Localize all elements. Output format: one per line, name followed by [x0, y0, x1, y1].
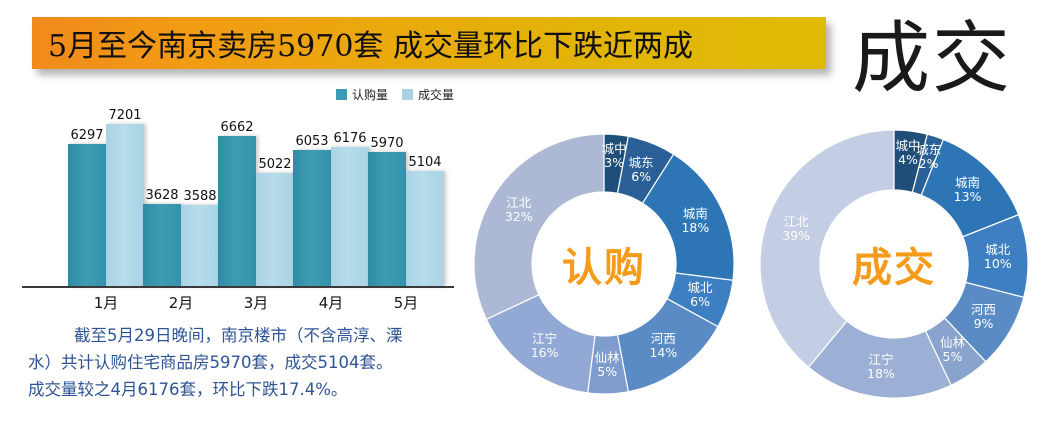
bar-value-label: 6297 [70, 128, 103, 143]
bar-group: 66625022 [218, 108, 294, 286]
bar-value-label: 3628 [145, 188, 178, 203]
bar: 6053 [293, 150, 331, 286]
bar-chart-legend: 认购量 成交量 [336, 86, 454, 103]
legend-item-0: 认购量 [336, 86, 388, 103]
bar-chart-x-labels: 1月2月3月4月5月 [22, 289, 454, 315]
x-axis-label: 5月 [394, 292, 419, 313]
caption-line-2: 水）共计认购住宅商品房5970套，成交5104套。 [28, 349, 458, 376]
banner-big-word: 成交 [852, 0, 1012, 108]
title-banner: 5月至今南京卖房5970套 成交量环比下跌近两成 [32, 17, 826, 69]
banner-title: 5月至今南京卖房5970套 成交量环比下跌近两成 [32, 21, 693, 65]
bar-group: 60536176 [293, 108, 369, 286]
bar-value-label: 3588 [183, 189, 216, 204]
x-axis-label: 2月 [169, 292, 194, 313]
bar-group: 36283588 [143, 108, 219, 286]
bar-chart: 认购量 成交量 62977201362835886662502260536176… [22, 86, 462, 316]
caption-line-3: 成交量较之4月6176套，环比下跌17.4%。 [28, 376, 458, 403]
bar-value-label: 5104 [408, 155, 441, 170]
bar-value-label: 6053 [295, 134, 328, 149]
bar-chart-plot: 6297720136283588666250226053617659705104 [22, 108, 462, 286]
bar: 5022 [256, 173, 294, 286]
bar-group: 59705104 [368, 108, 444, 286]
x-axis-label: 1月 [94, 292, 119, 313]
donut-center-label: 成交 [852, 235, 936, 293]
bar: 3628 [143, 204, 181, 286]
x-axis-label: 4月 [319, 292, 344, 313]
donut-chart-chengjiao: 成交 城中4%城东2%城南13%城北10%河西9%仙林5%江宁18%江北39% [758, 128, 1030, 400]
legend-item-1: 成交量 [402, 86, 454, 103]
legend-label-1: 成交量 [418, 86, 454, 103]
bar: 6176 [331, 147, 369, 286]
bar: 6662 [218, 136, 256, 286]
bar-group: 62977201 [68, 108, 144, 286]
bar: 5104 [406, 171, 444, 286]
bar-chart-axis [22, 286, 454, 288]
bar: 7201 [106, 124, 144, 286]
legend-swatch-icon [402, 89, 413, 100]
x-axis-label: 3月 [244, 292, 269, 313]
bar-value-label: 5970 [370, 136, 403, 151]
bar: 6297 [68, 144, 106, 286]
caption-block: 截至5月29日晚间，南京楼市（不含高淳、溧 水）共计认购住宅商品房5970套，成… [28, 322, 458, 403]
bar-value-label: 6662 [220, 120, 253, 135]
infographic-canvas: 5月至今南京卖房5970套 成交量环比下跌近两成 成交 认购量 成交量 6297… [0, 0, 1050, 438]
legend-label-0: 认购量 [352, 86, 388, 103]
bar-value-label: 5022 [258, 157, 291, 172]
bar-value-label: 6176 [333, 131, 366, 146]
bar-value-label: 7201 [108, 108, 141, 123]
bar: 5970 [368, 152, 406, 286]
donut-chart-renshou: 认购 城中3%城东6%城南18%城北6%河西14%仙林5%江宁16%江北32% [472, 128, 736, 400]
legend-swatch-icon [336, 89, 347, 100]
caption-line-1: 截至5月29日晚间，南京楼市（不含高淳、溧 [28, 322, 458, 349]
bar: 3588 [181, 205, 219, 286]
donut-center-label: 认购 [562, 235, 646, 293]
